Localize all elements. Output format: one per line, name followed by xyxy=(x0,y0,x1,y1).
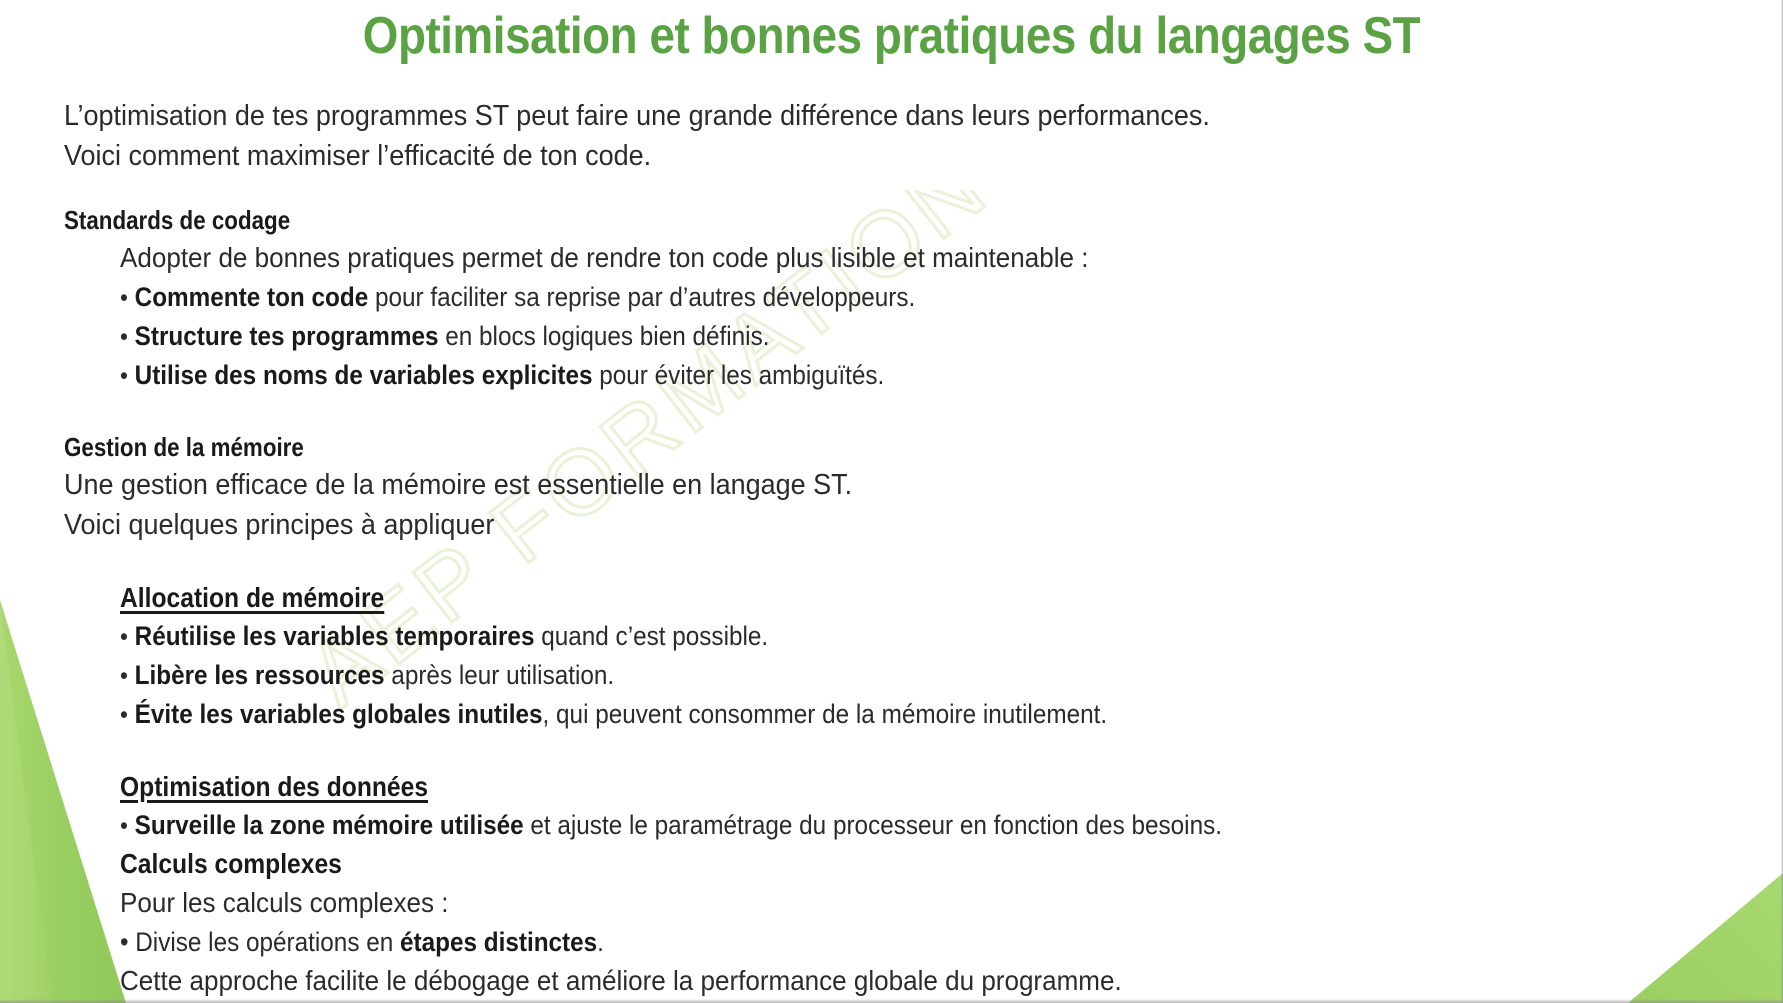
intro-line-2: Voici comment maximiser l’efficacité de … xyxy=(64,136,1608,176)
list-item-rest: , qui peuvent consommer de la mémoire in… xyxy=(543,699,1108,729)
list-item: • Libère les ressources après leur utili… xyxy=(120,656,1564,695)
bullet-icon: • xyxy=(120,284,128,312)
list-item-strong: Libère les ressources xyxy=(135,660,385,690)
list-item: • Divise les opérations en étapes distin… xyxy=(120,923,1564,961)
standards-lead-text: Adopter de bonnes pratiques permet de re… xyxy=(120,238,1612,278)
list-item: • Évite les variables globales inutiles,… xyxy=(120,695,1564,734)
memoire-line-2: Voici quelques principes à appliquer xyxy=(64,505,1608,545)
list-item-strong: Utilise des noms de variables explicites xyxy=(135,360,593,390)
calculs-closing-text: Cette approche facilite le débogage et a… xyxy=(120,961,1612,1001)
list-item-strong: Évite les variables globales inutiles xyxy=(135,699,543,729)
list-item-strong: Structure tes programmes xyxy=(135,321,439,351)
spacer xyxy=(64,734,1724,768)
list-item-prefix: • Divise les opérations en xyxy=(120,927,400,957)
list-item-rest: en blocs logiques bien définis. xyxy=(439,321,770,351)
slide-canvas: AEP FORMATION OUEST Optim xyxy=(0,0,1783,1003)
bullet-icon: • xyxy=(120,701,128,729)
list-item-rest: pour faciliter sa reprise par d’autres d… xyxy=(368,282,915,312)
list-item-strong: Commente ton code xyxy=(135,282,369,312)
list-item-rest: quand c’est possible. xyxy=(534,621,768,651)
bullet-icon: • xyxy=(120,662,128,690)
slide-body: L’optimisation de tes programmes ST peut… xyxy=(64,96,1724,1001)
list-item-rest: pour éviter les ambiguïtés. xyxy=(593,360,885,390)
list-item-rest: et ajuste le paramétrage du processeur e… xyxy=(524,810,1222,840)
memoire-line-1: Une gestion efficace de la mémoire est e… xyxy=(64,465,1608,505)
subsection-heading-calculs: Calculs complexes xyxy=(120,845,1532,883)
page-title: Optimisation et bonnes pratiques du lang… xyxy=(107,6,1676,66)
list-item-suffix: . xyxy=(597,927,604,957)
list-item-strong: étapes distinctes xyxy=(400,927,597,957)
bullet-icon: • xyxy=(120,623,128,651)
calculs-lead-text: Pour les calculs complexes : xyxy=(120,883,1612,923)
bullet-icon: • xyxy=(120,362,128,390)
bullet-icon: • xyxy=(120,323,128,351)
list-item-strong: Surveille la zone mémoire utilisée xyxy=(135,810,524,840)
list-item-strong: Réutilise les variables temporaires xyxy=(135,621,535,651)
list-item: • Surveille la zone mémoire utilisée et … xyxy=(120,806,1564,845)
section-heading-memoire: Gestion de la mémoire xyxy=(64,429,1492,465)
spacer xyxy=(64,545,1724,579)
list-item-rest: après leur utilisation. xyxy=(385,660,615,690)
spacer xyxy=(64,176,1724,202)
intro-line-1: L’optimisation de tes programmes ST peut… xyxy=(64,96,1608,136)
list-item: • Commente ton code pour faciliter sa re… xyxy=(120,278,1564,317)
list-item: • Structure tes programmes en blocs logi… xyxy=(120,317,1564,356)
list-item: • Utilise des noms de variables explicit… xyxy=(120,356,1564,395)
section-heading-standards: Standards de codage xyxy=(64,202,1492,238)
subsection-heading-allocation: Allocation de mémoire xyxy=(120,579,1532,617)
spacer xyxy=(64,395,1724,429)
bullet-icon: • xyxy=(120,812,128,840)
subsection-heading-donnees: Optimisation des données xyxy=(120,768,1532,806)
list-item: • Réutilise les variables temporaires qu… xyxy=(120,617,1564,656)
page-edge-bottom xyxy=(0,999,1783,1003)
